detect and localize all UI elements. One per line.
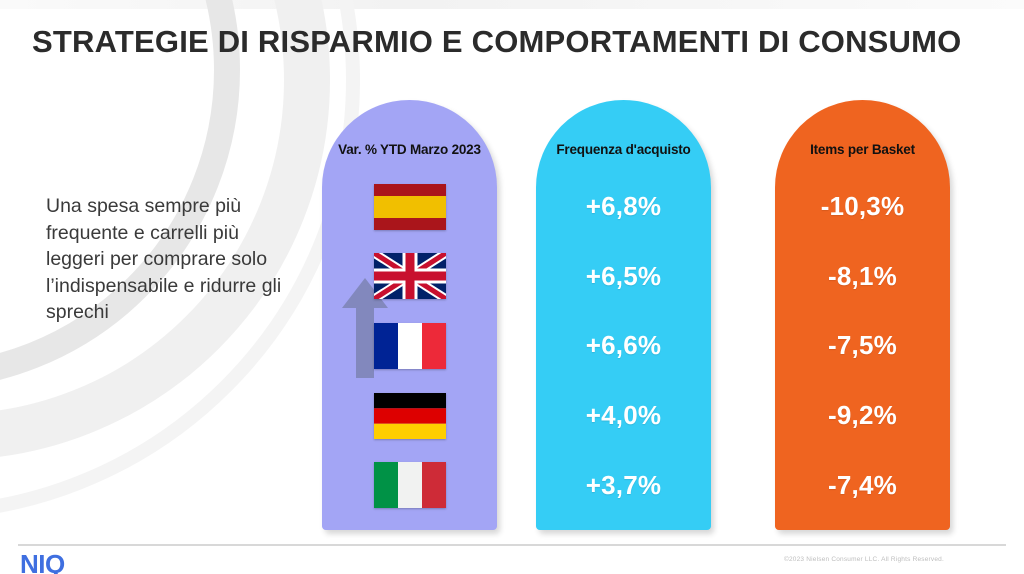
column-frequency: Frequenza d'acquisto +6,8% +6,5% +6,6% +…	[536, 100, 711, 530]
column-frequency-body: +6,8% +6,5% +6,6% +4,0% +3,7%	[536, 172, 711, 520]
value-frequency-france: +6,6%	[586, 330, 661, 361]
slide-canvas: STRATEGIE DI RISPARMIO E COMPORTAMENTI D…	[0, 0, 1024, 574]
value-frequency-spain: +6,8%	[586, 191, 661, 222]
flag-italy	[374, 455, 446, 515]
flag-spain	[374, 177, 446, 237]
column-countries-body	[322, 172, 497, 520]
column-frequency-header: Frequenza d'acquisto	[536, 142, 711, 157]
value-frequency-uk: +6,5%	[586, 261, 661, 292]
flag-germany	[374, 386, 446, 446]
column-countries: Var. % YTD Marzo 2023	[322, 100, 497, 530]
lead-paragraph: Una spesa sempre più frequente e carrell…	[46, 193, 296, 326]
footer-divider	[18, 544, 1006, 546]
flag-uk	[374, 246, 446, 306]
column-items-body: -10,3% -8,1% -7,5% -9,2% -7,4%	[775, 172, 950, 520]
niq-logo: NIQ	[20, 549, 65, 574]
value-items-italy: -7,4%	[828, 470, 897, 501]
value-items-france: -7,5%	[828, 330, 897, 361]
flag-france	[374, 316, 446, 376]
column-countries-header: Var. % YTD Marzo 2023	[322, 142, 497, 157]
value-frequency-italy: +3,7%	[586, 470, 661, 501]
copyright-notice: ©2023 Nielsen Consumer LLC. All Rights R…	[784, 556, 944, 563]
column-items-per-basket: Items per Basket -10,3% -8,1% -7,5% -9,2…	[775, 100, 950, 530]
value-frequency-germany: +4,0%	[586, 400, 661, 431]
column-items-header: Items per Basket	[775, 142, 950, 157]
value-items-spain: -10,3%	[821, 191, 905, 222]
value-items-germany: -9,2%	[828, 400, 897, 431]
top-decorative-strip	[0, 0, 1024, 9]
page-title: STRATEGIE DI RISPARMIO E COMPORTAMENTI D…	[32, 24, 1012, 60]
value-items-uk: -8,1%	[828, 261, 897, 292]
